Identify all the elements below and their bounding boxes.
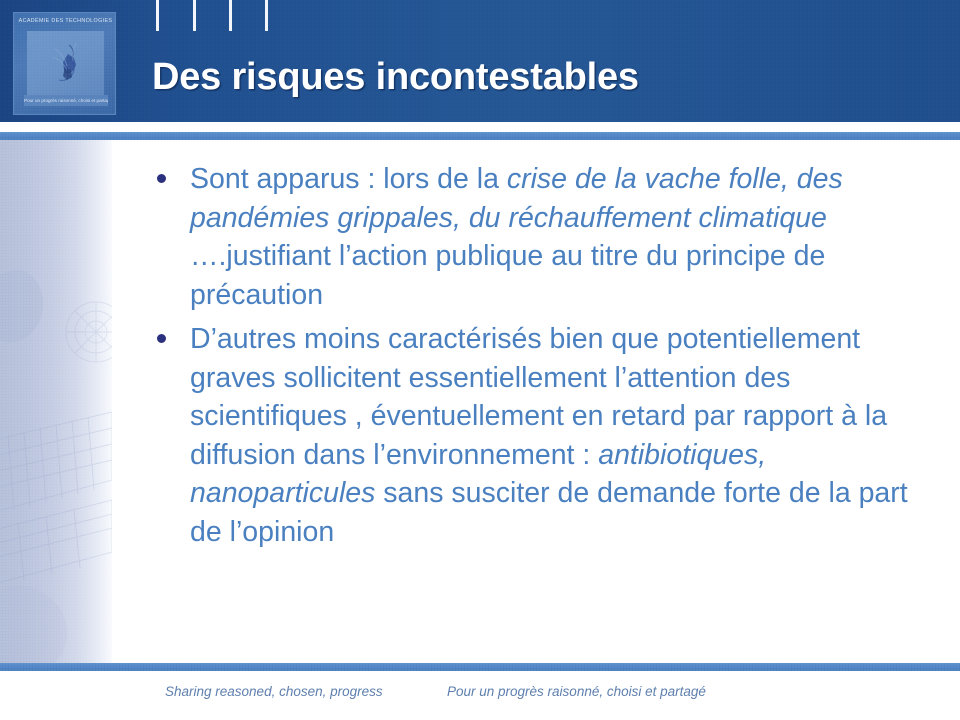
watermark-blueprint-icon	[0, 140, 112, 663]
footer-tagline-english: Sharing reasoned, chosen, progress	[165, 684, 383, 699]
logo-figure-icon	[43, 37, 91, 91]
logo-title-text: ACADÉMIE DES TECHNOLOGIES	[14, 18, 116, 24]
academie-des-technologies-logo: ACADÉMIE DES TECHNOLOGIES Pour un progrè…	[13, 12, 116, 115]
bullet-dot-icon	[157, 174, 166, 183]
slide-body-content: Sont apparus : lors de la crise de la va…	[150, 160, 910, 557]
header-tick-mark-1	[156, 0, 159, 31]
bullet-dot-icon	[157, 334, 166, 343]
header-tick-mark-3	[229, 0, 232, 31]
bullet-text-1: Sont apparus : lors de la crise de la va…	[190, 160, 910, 314]
bullet-item-2: D’autres moins caractérisés bien que pot…	[150, 320, 910, 551]
footer-tagline-french: Pour un progrès raisonné, choisi et part…	[447, 684, 706, 699]
logo-inner-panel	[27, 31, 104, 95]
header-tick-mark-4	[265, 0, 268, 31]
bullet-text-2: D’autres moins caractérisés bien que pot…	[190, 320, 910, 551]
slide-title: Des risques incontestables	[152, 56, 639, 99]
sidebar-watermark-graphic	[0, 140, 112, 663]
header-tick-mark-2	[193, 0, 196, 31]
bullet-item-1: Sont apparus : lors de la crise de la va…	[150, 160, 910, 314]
header-divider-rule	[0, 132, 960, 140]
slide-footer: Sharing reasoned, chosen, progress Pour …	[0, 676, 960, 720]
logo-tagline-text: Pour un progrès raisonné, choisi et part…	[24, 95, 108, 106]
presentation-slide: ACADÉMIE DES TECHNOLOGIES Pour un progrè…	[0, 0, 960, 720]
footer-divider-rule	[0, 663, 960, 671]
